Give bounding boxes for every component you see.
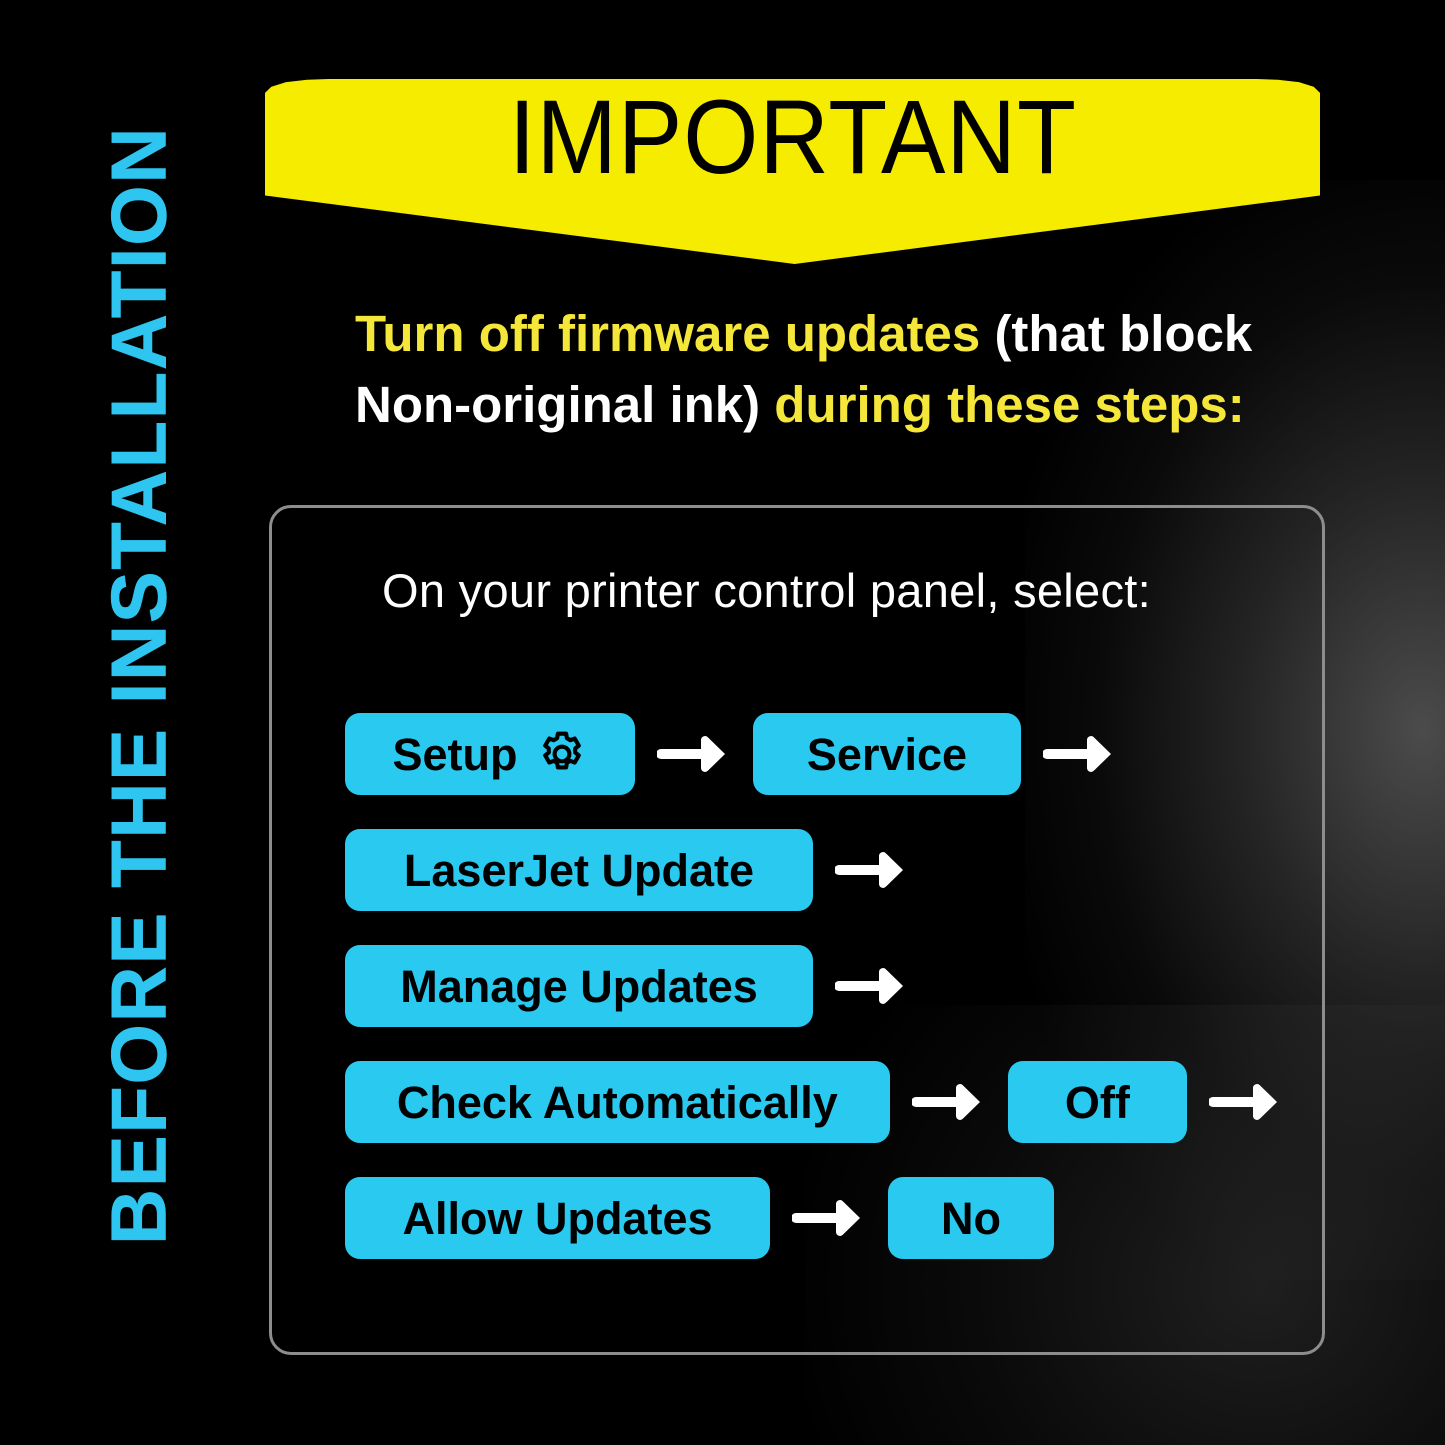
headline: Turn off firmware updates (that block No… — [355, 298, 1255, 441]
arrow-right-icon — [835, 962, 909, 1010]
headline-part-3: during these steps: — [760, 376, 1245, 433]
chip-service[interactable]: Service — [753, 713, 1021, 795]
step-row: Allow Updates No — [345, 1177, 1305, 1259]
important-banner: IMPORTANT — [265, 79, 1320, 264]
panel-heading: On your printer control panel, select: — [382, 563, 1151, 618]
side-title: BEFORE THE INSTALLATION — [94, 41, 185, 1331]
step-row: Setup Service — [345, 713, 1305, 795]
arrow-right-icon — [657, 730, 731, 778]
arrow-right-icon — [1043, 730, 1117, 778]
headline-part-1: Turn off firmware updates — [355, 305, 994, 362]
chip-no[interactable]: No — [888, 1177, 1054, 1259]
chip-laserjet-update-label: LaserJet Update — [404, 848, 754, 893]
chip-allow-updates-label: Allow Updates — [402, 1196, 712, 1241]
chip-allow-updates[interactable]: Allow Updates — [345, 1177, 770, 1259]
chip-service-label: Service — [807, 732, 967, 777]
step-row: Check Automatically Off — [345, 1061, 1305, 1143]
side-title-container: BEFORE THE INSTALLATION — [0, 0, 250, 1445]
arrow-right-icon — [835, 846, 909, 894]
gear-icon — [536, 728, 588, 780]
chip-manage-updates[interactable]: Manage Updates — [345, 945, 813, 1027]
chip-check-automatically-label: Check Automatically — [397, 1080, 838, 1125]
step-row: LaserJet Update — [345, 829, 1305, 911]
step-row: Manage Updates — [345, 945, 1305, 1027]
banner-title: IMPORTANT — [508, 85, 1076, 190]
chip-setup[interactable]: Setup — [345, 713, 635, 795]
chip-setup-label: Setup — [392, 732, 517, 777]
arrow-right-icon — [792, 1194, 866, 1242]
steps-list: Setup Service — [345, 713, 1305, 1293]
instructions-panel: On your printer control panel, select: S… — [269, 505, 1325, 1355]
poster-canvas: BEFORE THE INSTALLATION IMPORTANT Turn o… — [0, 0, 1445, 1445]
chip-check-automatically[interactable]: Check Automatically — [345, 1061, 890, 1143]
chip-off-label: Off — [1065, 1080, 1130, 1125]
chip-manage-updates-label: Manage Updates — [400, 964, 758, 1009]
chip-no-label: No — [941, 1196, 1001, 1241]
chip-off[interactable]: Off — [1008, 1061, 1187, 1143]
chip-laserjet-update[interactable]: LaserJet Update — [345, 829, 813, 911]
arrow-right-icon — [1209, 1078, 1283, 1126]
arrow-right-icon — [912, 1078, 986, 1126]
